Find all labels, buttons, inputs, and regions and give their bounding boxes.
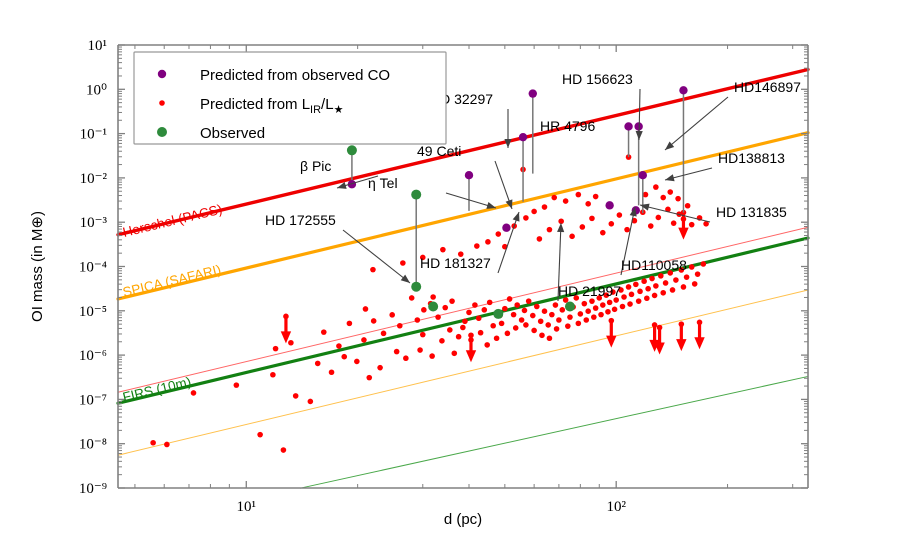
- data-point-predicted-lir: [612, 307, 618, 313]
- y-axis-tick-label: 10⁻²: [80, 171, 108, 187]
- data-point-predicted-lir: [645, 286, 651, 292]
- data-point-predicted-lir: [361, 337, 367, 343]
- data-point-predicted-lir: [495, 231, 501, 237]
- data-point-predicted-lir: [600, 302, 606, 308]
- data-point-predicted-lir: [673, 277, 679, 283]
- data-point-predicted-lir: [449, 298, 455, 304]
- legend-label-0: Predicted from observed CO: [200, 67, 390, 84]
- data-point-predicted-lir: [593, 305, 599, 311]
- data-point-predicted-co: [529, 89, 537, 97]
- data-point-predicted-lir: [164, 442, 170, 448]
- data-point-predicted-lir: [663, 280, 669, 286]
- data-point-predicted-lir: [607, 300, 613, 306]
- annotation-hd-21997: HD 21997: [558, 283, 621, 299]
- data-point-predicted-lir: [270, 372, 276, 378]
- data-point-predicted-lir: [191, 390, 197, 396]
- data-point-predicted-lir: [370, 267, 376, 273]
- data-point-predicted-lir: [658, 273, 664, 279]
- y-axis-tick-label: 10⁻⁶: [79, 348, 107, 364]
- data-point-predicted-lir: [593, 194, 599, 200]
- data-point-predicted-lir: [542, 308, 548, 314]
- data-point-predicted-lir: [363, 306, 369, 312]
- data-point-predicted-lir: [637, 289, 643, 295]
- data-point-predicted-lir: [502, 306, 508, 312]
- data-point-predicted-lir: [494, 335, 500, 341]
- data-point-predicted-lir: [293, 393, 299, 399]
- data-point-observed: [493, 309, 503, 319]
- data-point-predicted-lir: [442, 305, 448, 311]
- y-axis-tick-label: 10⁻¹: [80, 127, 107, 143]
- data-point-predicted-lir: [451, 350, 457, 356]
- data-point-predicted-lir: [578, 311, 584, 317]
- data-point-predicted-co: [605, 201, 613, 209]
- data-point-predicted-lir: [670, 287, 676, 293]
- data-point-predicted-lir: [554, 326, 560, 332]
- data-point-predicted-lir: [482, 307, 488, 313]
- y-axis-tick-label: 10⁻⁹: [79, 481, 107, 497]
- data-point-predicted-lir: [400, 260, 406, 266]
- data-point-predicted-lir: [689, 222, 695, 228]
- data-point-predicted-lir: [653, 283, 659, 289]
- data-point-predicted-lir: [569, 234, 575, 240]
- data-point-predicted-lir: [547, 335, 553, 341]
- data-point-predicted-lir: [576, 321, 582, 327]
- data-point-predicted-lir: [585, 201, 591, 207]
- data-point-predicted-lir: [273, 346, 279, 352]
- data-point-predicted-lir: [439, 338, 445, 344]
- data-point-predicted-co: [634, 122, 642, 130]
- data-point-predicted-lir: [394, 349, 400, 355]
- data-point-predicted-lir: [689, 264, 695, 270]
- data-point-predicted-lir: [435, 314, 441, 320]
- data-point-observed: [411, 190, 421, 200]
- data-point-predicted-lir: [281, 447, 287, 453]
- data-point-predicted-lir: [530, 313, 536, 319]
- y-axis-tick-label: 10⁻⁴: [79, 260, 107, 276]
- data-point-predicted-lir: [644, 295, 650, 301]
- data-point-predicted-lir: [466, 310, 472, 316]
- legend-marker-1: [159, 100, 165, 106]
- data-point-predicted-lir: [563, 198, 569, 204]
- x-axis-tick-label: 10²: [606, 499, 626, 515]
- data-point-predicted-lir: [648, 223, 654, 229]
- data-point-predicted-lir: [484, 342, 490, 348]
- data-point-predicted-lir: [633, 282, 639, 288]
- data-point-predicted-lir: [522, 308, 528, 314]
- data-point-predicted-lir: [511, 312, 517, 318]
- data-point-predicted-lir: [589, 216, 595, 222]
- data-point-predicted-lir: [560, 307, 566, 313]
- data-point-predicted-lir: [565, 323, 571, 329]
- data-point-predicted-lir: [589, 298, 595, 304]
- data-point-predicted-lir: [329, 369, 335, 375]
- data-point-predicted-lir: [487, 300, 493, 306]
- data-point-predicted-lir: [415, 317, 421, 323]
- y-axis-tick-label: 10⁻⁸: [79, 437, 107, 453]
- data-point-predicted-lir: [462, 318, 468, 324]
- data-point-predicted-lir: [409, 295, 415, 301]
- data-point-predicted-lir: [542, 204, 548, 210]
- data-point-predicted-lir: [478, 330, 484, 336]
- data-point-predicted-lir: [321, 329, 327, 335]
- data-point-predicted-lir: [671, 220, 677, 226]
- oi-mass-vs-distance-scatter-plot: 10¹10⁰10⁻¹10⁻²10⁻³10⁻⁴10⁻⁵10⁻⁶10⁻⁷10⁻⁸10…: [0, 0, 899, 540]
- data-point-predicted-lir: [417, 347, 423, 353]
- y-axis-tick-label: 10⁻³: [80, 215, 108, 231]
- data-point-predicted-lir: [576, 192, 582, 198]
- data-point-predicted-lir: [656, 215, 662, 221]
- data-point-predicted-lir: [598, 312, 604, 318]
- data-point-predicted-lir: [514, 302, 520, 308]
- data-point-predicted-lir: [624, 227, 630, 233]
- y-axis-tick-label: 10⁻⁵: [79, 304, 107, 320]
- legend-group: Predicted from observed COPredicted from…: [134, 52, 446, 144]
- annotation-hd146897: HD146897: [734, 79, 801, 95]
- data-point-predicted-lir: [629, 292, 635, 298]
- annotation-hr-4796: HR 4796: [540, 118, 595, 134]
- annotation-hd-172555: HD 172555: [265, 212, 336, 228]
- data-point-predicted-lir: [485, 239, 491, 245]
- data-point-predicted-lir: [507, 296, 513, 302]
- annotation-hd138813: HD138813: [718, 150, 785, 166]
- data-point-predicted-lir: [605, 309, 611, 315]
- data-point-predicted-lir: [556, 317, 562, 323]
- data-point-predicted-lir: [538, 318, 544, 324]
- annotation-hd-131835: HD 131835: [716, 204, 787, 220]
- data-point-predicted-lir: [347, 321, 353, 327]
- data-point-predicted-lir: [523, 322, 529, 328]
- data-point-predicted-lir: [660, 195, 666, 201]
- data-point-predicted-lir: [429, 353, 435, 359]
- legend-marker-2: [157, 127, 167, 137]
- data-point-predicted-lir: [420, 332, 426, 338]
- data-point-predicted-lir: [315, 361, 321, 367]
- y-axis-tick-label: 10⁻⁷: [79, 392, 107, 408]
- data-point-predicted-lir: [513, 325, 519, 331]
- data-point-predicted-lir: [381, 331, 387, 337]
- data-point-predicted-lir: [583, 317, 589, 323]
- data-point-predicted-lir: [539, 332, 545, 338]
- data-point-predicted-lir: [620, 304, 626, 310]
- data-point-predicted-lir: [288, 340, 294, 346]
- annotation-tel: η Tel: [368, 175, 398, 191]
- data-point-observed: [565, 302, 575, 312]
- data-point-predicted-lir: [580, 224, 586, 230]
- data-point-predicted-co: [624, 122, 632, 130]
- data-point-predicted-lir: [150, 440, 156, 446]
- data-point-predicted-co: [679, 86, 687, 94]
- data-point-predicted-lir: [549, 312, 555, 318]
- data-point-predicted-lir: [371, 318, 377, 324]
- data-point-predicted-lir: [397, 323, 403, 329]
- data-point-predicted-lir: [447, 327, 453, 333]
- annotation-hd-181327: HD 181327: [420, 255, 491, 271]
- data-point-predicted-lir: [567, 314, 573, 320]
- data-point-predicted-lir: [553, 302, 559, 308]
- data-point-predicted-lir: [505, 331, 511, 337]
- data-point-predicted-lir: [456, 334, 462, 340]
- data-point-predicted-lir: [460, 325, 466, 331]
- annotation-hd110058: HD110058: [621, 257, 687, 273]
- annotation-49-ceti: 49 Ceti: [417, 143, 461, 159]
- data-point-predicted-lir: [551, 195, 557, 201]
- data-point-predicted-lir: [537, 236, 543, 242]
- data-point-predicted-lir: [336, 343, 342, 349]
- data-point-predicted-co: [465, 171, 473, 179]
- y-axis-tick-label: 10⁰: [86, 82, 107, 98]
- data-point-predicted-lir: [403, 355, 409, 361]
- data-point-predicted-lir: [653, 184, 659, 190]
- data-point-predicted-lir: [531, 328, 537, 334]
- data-point-predicted-lir: [591, 314, 597, 320]
- annotation-pic: β Pic: [300, 158, 331, 174]
- data-point-predicted-lir: [621, 294, 627, 300]
- data-point-predicted-co: [502, 224, 510, 232]
- data-point-predicted-lir: [675, 196, 681, 202]
- data-point-predicted-lir: [499, 321, 505, 327]
- data-point-predicted-lir: [308, 399, 314, 405]
- x-axis-tick-label: 10¹: [237, 499, 257, 515]
- data-point-predicted-lir: [660, 290, 666, 296]
- data-point-predicted-lir: [649, 276, 655, 282]
- data-point-predicted-lir: [519, 317, 525, 323]
- data-point-predicted-lir: [681, 284, 687, 290]
- data-point-predicted-lir: [377, 365, 383, 371]
- data-point-predicted-lir: [701, 261, 707, 267]
- data-point-predicted-lir: [523, 215, 529, 221]
- data-point-predicted-lir: [257, 432, 263, 438]
- data-point-predicted-lir: [617, 212, 623, 218]
- data-point-predicted-lir: [474, 243, 480, 249]
- data-point-predicted-lir: [636, 298, 642, 304]
- data-point-observed: [428, 302, 438, 312]
- data-point-predicted-lir: [684, 274, 690, 280]
- data-point-predicted-lir: [430, 294, 436, 300]
- data-point-predicted-lir: [476, 315, 482, 321]
- data-point-predicted-lir: [609, 221, 615, 227]
- data-point-predicted-lir: [234, 382, 240, 388]
- data-point-predicted-lir: [526, 298, 532, 304]
- data-point-predicted-lir: [490, 323, 496, 329]
- data-point-predicted-lir: [545, 322, 551, 328]
- legend-label-2: Observed: [200, 125, 265, 142]
- legend-marker-0: [158, 70, 166, 78]
- y-axis-title: OI mass (in M⊕): [29, 211, 46, 322]
- data-point-predicted-lir: [472, 302, 478, 308]
- data-point-predicted-lir: [685, 203, 691, 209]
- data-point-predicted-lir: [547, 227, 553, 233]
- data-point-predicted-lir: [531, 209, 537, 215]
- data-point-predicted-lir: [652, 293, 658, 299]
- figure-container: 10¹10⁰10⁻¹10⁻²10⁻³10⁻⁴10⁻⁵10⁻⁶10⁻⁷10⁻⁸10…: [0, 0, 899, 540]
- data-point-observed: [347, 145, 357, 155]
- data-point-predicted-lir: [354, 359, 360, 365]
- data-point-predicted-lir: [440, 247, 446, 253]
- data-point-predicted-lir: [582, 301, 588, 307]
- data-point-predicted-lir: [626, 284, 632, 290]
- data-point-predicted-lir: [389, 312, 395, 318]
- data-point-predicted-lir: [341, 354, 347, 360]
- y-axis-tick-label: 10¹: [88, 38, 108, 54]
- data-point-predicted-co: [519, 133, 527, 141]
- data-point-predicted-lir: [600, 230, 606, 236]
- data-point-predicted-lir: [421, 307, 427, 313]
- data-point-predicted-lir: [627, 301, 633, 307]
- annotation-hd-156623: HD 156623: [562, 71, 633, 87]
- data-point-predicted-lir: [585, 308, 591, 314]
- data-point-predicted-lir: [692, 281, 698, 287]
- data-point-predicted-co: [639, 171, 647, 179]
- data-point-predicted-lir: [695, 271, 701, 277]
- x-axis-title: d (pc): [444, 511, 482, 528]
- data-point-predicted-lir: [667, 189, 673, 195]
- data-point-observed: [411, 282, 421, 292]
- data-point-predicted-lir: [366, 375, 372, 381]
- data-point-predicted-lir: [534, 304, 540, 310]
- data-point-predicted-lir: [641, 278, 647, 284]
